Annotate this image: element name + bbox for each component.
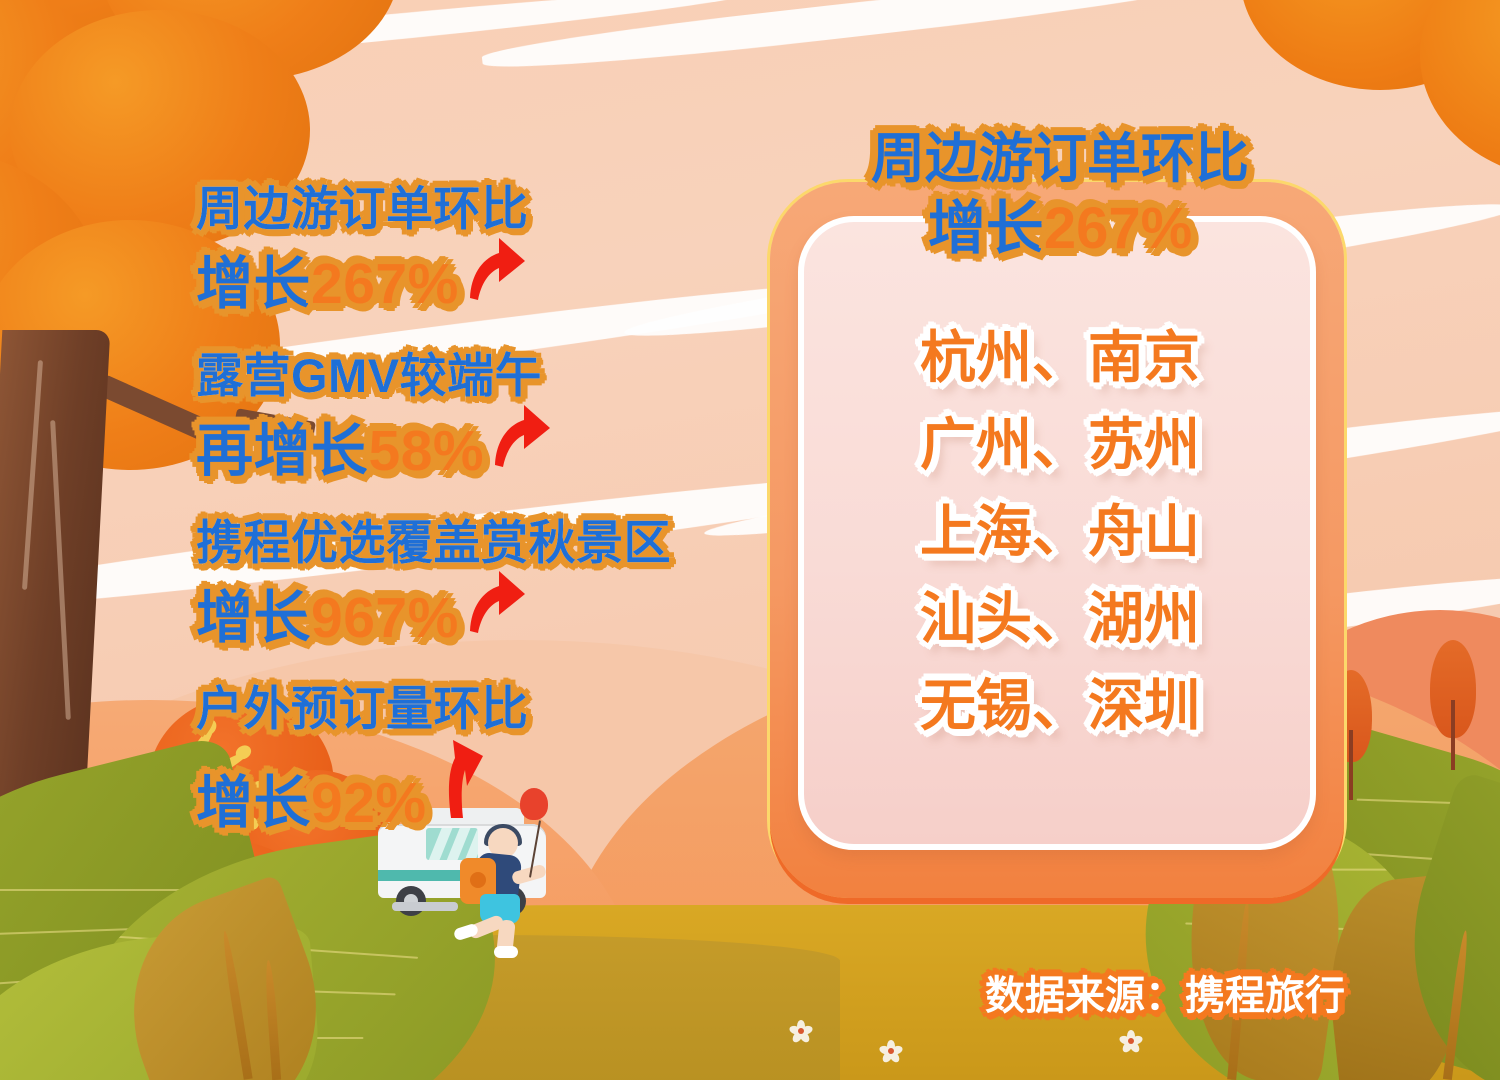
- stat-title: 露营GMV较端午: [196, 351, 756, 401]
- stat-title: 户外预订量环比: [196, 684, 756, 734]
- city-row: 汕头、湖州: [790, 591, 1330, 647]
- up-arrow-icon: [469, 567, 529, 640]
- stat-title: 携程优选覆盖赏秋景区: [196, 518, 756, 568]
- stat-value: 增长967%: [196, 588, 459, 648]
- stat-item: 户外预订量环比 增长92%: [196, 684, 756, 833]
- card-title-line1: 周边游订单环比: [790, 130, 1330, 189]
- card-title: 周边游订单环比 增长267%: [790, 130, 1330, 261]
- small-flower: [1120, 1030, 1142, 1052]
- stat-value: 增长267%: [196, 254, 459, 314]
- card-title-value: 增长267%: [790, 197, 1330, 261]
- stat-item: 露营GMV较端午 再增长58%: [196, 351, 756, 482]
- small-flower: [790, 1020, 812, 1042]
- infographic-poster: 周边游订单环比 增长267% 露营GMV较端午 再增长58% 携程优选覆盖赏秋景…: [0, 0, 1500, 1080]
- up-arrow-icon: [494, 401, 554, 474]
- up-arrow-icon: [431, 734, 491, 825]
- stat-item: 携程优选覆盖赏秋景区 增长967%: [196, 518, 756, 649]
- stat-list: 周边游订单环比 增长267% 露营GMV较端午 再增长58% 携程优选覆盖赏秋景…: [196, 184, 756, 869]
- city-row: 上海、舟山: [790, 504, 1330, 560]
- stat-item: 周边游订单环比 增长267%: [196, 184, 756, 315]
- city-list: 杭州、南京 广州、苏州 上海、舟山 汕头、湖州 无锡、深圳: [790, 330, 1330, 765]
- stat-value: 再增长58%: [196, 421, 484, 481]
- stat-value: 增长92%: [196, 773, 427, 833]
- city-row: 广州、苏州: [790, 417, 1330, 473]
- city-row: 杭州、南京: [790, 330, 1330, 386]
- stat-title: 周边游订单环比: [196, 184, 756, 234]
- data-source-label: 数据来源：携程旅行: [985, 963, 1345, 1021]
- up-arrow-icon: [469, 234, 529, 307]
- small-flower: [880, 1040, 902, 1062]
- city-row: 无锡、深圳: [790, 678, 1330, 734]
